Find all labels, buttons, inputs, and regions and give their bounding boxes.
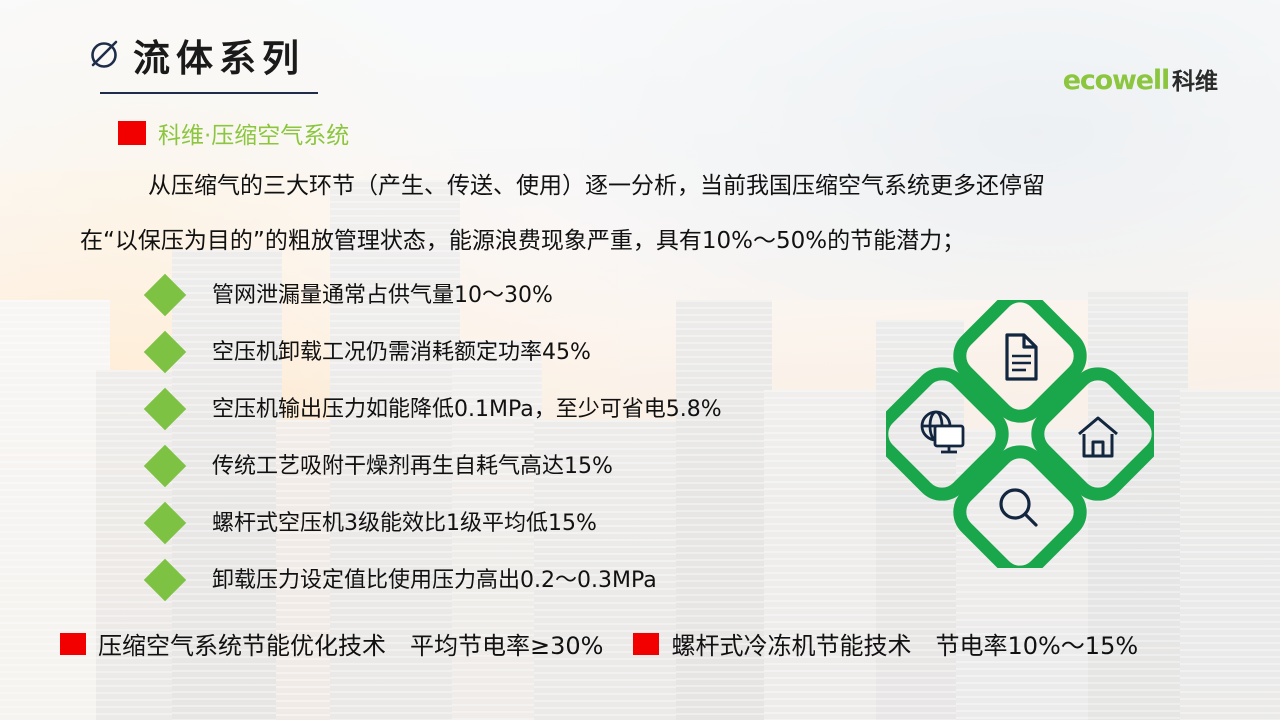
section-heading-label: 科维·压缩空气系统 bbox=[158, 116, 349, 150]
paragraph-line-2: 在“以保压为目的”的粗放管理状态，能源浪费现象严重，具有10%～50%的节能潜力… bbox=[80, 221, 965, 255]
list-item-label: 螺杆式空压机3级能效比1级平均低15% bbox=[212, 505, 597, 537]
paragraph-line-1: 从压缩气的三大环节（产生、传送、使用）逐一分析，当前我国压缩空气系统更多还停留 bbox=[148, 166, 1045, 200]
magnifier-icon bbox=[1001, 490, 1036, 525]
footer-tags: 压缩空气系统节能优化技术 平均节电率≥30% 螺杆式冷冻机节能技术 节电率10%… bbox=[60, 626, 1138, 661]
logo-wordmark-cn: 科维 bbox=[1172, 62, 1218, 96]
footer-tag: 螺杆式冷冻机节能技术 节电率10%～15% bbox=[633, 626, 1138, 661]
list-item-label: 管网泄漏量通常占供气量10～30% bbox=[212, 277, 553, 309]
list-item-label: 卸载压力设定值比使用压力高出0.2～0.3MPa bbox=[212, 562, 657, 594]
diamond-bullet-icon bbox=[144, 559, 186, 601]
diamond-bullet-icon bbox=[144, 388, 186, 430]
section-heading: 科维·压缩空气系统 bbox=[118, 116, 349, 150]
page-title: 流体系列 bbox=[133, 28, 305, 82]
diamond-bullet-icon bbox=[144, 331, 186, 373]
diamond-bullet-icon bbox=[144, 502, 186, 544]
diamond-bullet-icon bbox=[144, 274, 186, 316]
logo-wordmark: ecowell bbox=[1063, 65, 1169, 96]
footer-tag: 压缩空气系统节能优化技术 平均节电率≥30% bbox=[60, 626, 603, 661]
diamond-outline-right bbox=[1029, 365, 1154, 504]
diamond-bullet-icon bbox=[144, 445, 186, 487]
diamond-outline-bottom bbox=[951, 443, 1090, 568]
circle-slash-icon bbox=[88, 36, 122, 70]
list-item-label: 空压机输出压力如能降低0.1MPa，至少可省电5.8% bbox=[212, 391, 722, 423]
document-icon bbox=[1007, 335, 1036, 379]
footer-tag-label: 压缩空气系统节能优化技术 平均节电率≥30% bbox=[98, 626, 603, 661]
footer-bullet-square bbox=[633, 633, 659, 655]
list-item-label: 空压机卸载工况仍需消耗额定功率45% bbox=[212, 334, 591, 366]
list-item-label: 传统工艺吸附干燥剂再生自耗气高达15% bbox=[212, 448, 613, 480]
footer-bullet-square bbox=[60, 633, 86, 655]
footer-tag-label: 螺杆式冷冻机节能技术 节电率10%～15% bbox=[671, 626, 1138, 661]
house-icon bbox=[1079, 418, 1117, 456]
slide-canvas: 流体系列 ecowell 科维 科维·压缩空气系统 从压缩气的三大环节（产生、传… bbox=[0, 0, 1280, 720]
brand-logo: ecowell 科维 bbox=[1063, 62, 1218, 96]
four-diamond-cluster-graphic bbox=[886, 300, 1154, 568]
globe-monitor-icon bbox=[922, 412, 963, 452]
section-bullet-square bbox=[118, 121, 146, 145]
title-divider bbox=[100, 92, 318, 94]
